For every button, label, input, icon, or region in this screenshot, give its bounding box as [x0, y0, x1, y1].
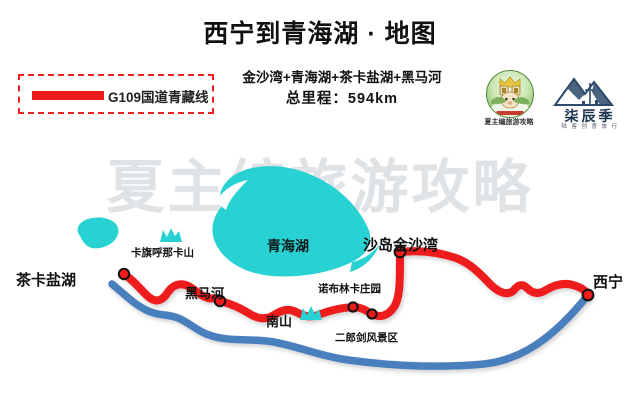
- map-label-erlangjian-scenic-area: 二郎剑风景区: [335, 333, 398, 344]
- marker-xining[interactable]: [583, 290, 594, 301]
- subtitle-total-distance: 总里程：594km: [228, 88, 456, 110]
- map-label-qinghai-lake: 青海湖: [267, 239, 309, 253]
- logo-qichenji-subcaption: 陆 客 创 意 旅 行: [552, 122, 628, 130]
- subtitle-route-summary: 金沙湾+青海湖+茶卡盐湖+黑马河: [228, 68, 456, 88]
- map-label-shadao-jinshawan: 沙岛金沙湾: [363, 238, 438, 253]
- map-poster: 西宁到青海湖 · 地图 G109国道青藏线 金沙湾+青海湖+茶卡盐湖+黑马河 总…: [0, 0, 640, 401]
- logo-xiazhubian-badge-icon: [486, 70, 534, 118]
- logo-qichenji: 柒辰季 陆 客 创 意 旅 行: [552, 70, 628, 130]
- poster-header: 西宁到青海湖 · 地图 G109国道青藏线 金沙湾+青海湖+茶卡盐湖+黑马河 总…: [0, 0, 640, 140]
- map-canvas: 夏主编旅游攻略: [0, 132, 640, 401]
- legend-box: G109国道青藏线: [18, 74, 214, 114]
- page-title: 西宁到青海湖 · 地图: [0, 14, 640, 50]
- map-label-kaqihunaka-mountain: 卡旗呼那卡山: [131, 248, 194, 259]
- mountain-logo-icon: [552, 70, 628, 108]
- marker-norbulingka[interactable]: [348, 302, 357, 311]
- map-label-xining: 西宁: [593, 275, 623, 290]
- marker-chaka-salt-lake[interactable]: [119, 269, 129, 279]
- map-label-chaka-salt-lake: 茶卡盐湖: [16, 273, 76, 288]
- mascot-icon: [487, 71, 533, 117]
- map-label-heima-river: 黑马河: [185, 287, 224, 300]
- subtitle-block: 金沙湾+青海湖+茶卡盐湖+黑马河 总里程：594km: [228, 68, 456, 110]
- map-markers-layer: [0, 132, 640, 401]
- marker-erlangjian[interactable]: [367, 309, 376, 318]
- map-label-nanshan: 南山: [266, 315, 292, 328]
- legend-color-swatch: [32, 91, 104, 100]
- logo-xiazhubian: 夏主编旅游攻略: [478, 70, 540, 130]
- logo-xiazhubian-caption: 夏主编旅游攻略: [478, 117, 540, 127]
- legend-label: G109国道青藏线: [108, 86, 209, 106]
- map-label-norbulingka-manor: 诺布林卡庄园: [318, 284, 381, 295]
